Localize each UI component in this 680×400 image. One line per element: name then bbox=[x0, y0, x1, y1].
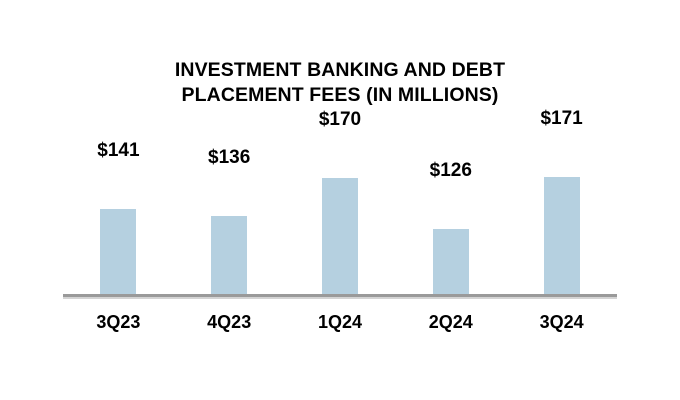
bar[interactable] bbox=[544, 177, 580, 295]
bar-value-label: $170 bbox=[285, 109, 395, 131]
bar[interactable] bbox=[211, 216, 247, 295]
x-axis-labels: 3Q23 4Q23 1Q24 2Q24 3Q24 bbox=[63, 310, 617, 336]
plot-area: $141 $136 $170 $126 $171 bbox=[63, 140, 617, 295]
bar-group: $171 bbox=[506, 140, 617, 295]
bar-group: $136 bbox=[174, 140, 285, 295]
x-axis-tick-label: 3Q23 bbox=[63, 310, 174, 334]
bar-value-label: $136 bbox=[174, 147, 284, 169]
x-axis-tick-label: 4Q23 bbox=[174, 310, 285, 334]
x-axis-tick-label: 1Q24 bbox=[285, 310, 396, 334]
bar[interactable] bbox=[322, 178, 358, 295]
x-axis-shadow bbox=[63, 297, 617, 299]
x-axis-tick-label: 2Q24 bbox=[395, 310, 506, 334]
bar[interactable] bbox=[100, 209, 136, 295]
bar-value-label: $141 bbox=[63, 140, 173, 162]
bar-group: $126 bbox=[395, 140, 506, 295]
bar-group: $141 bbox=[63, 140, 174, 295]
bar-value-label: $171 bbox=[507, 108, 617, 130]
bar-chart: INVESTMENT BANKING AND DEBT PLACEMENT FE… bbox=[0, 0, 680, 400]
chart-title: INVESTMENT BANKING AND DEBT PLACEMENT FE… bbox=[0, 58, 680, 108]
bar[interactable] bbox=[433, 229, 469, 295]
x-axis-tick-label: 3Q24 bbox=[506, 310, 617, 334]
bar-group: $170 bbox=[285, 140, 396, 295]
bar-value-label: $126 bbox=[396, 160, 506, 182]
